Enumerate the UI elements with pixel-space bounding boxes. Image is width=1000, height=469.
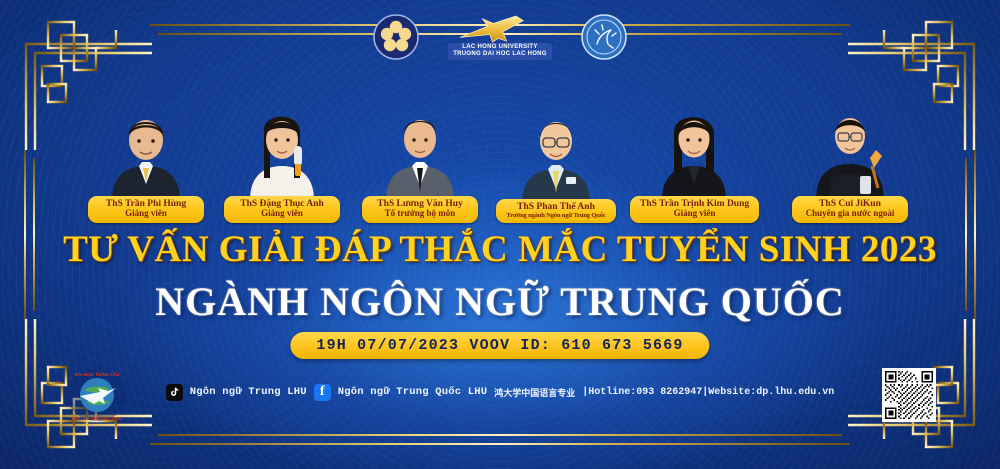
contact-info: |Hotline:093 8262947|Website:dp.lhu.edu.… bbox=[582, 387, 834, 398]
event-time-bar: 19H 07/07/2023 VOOV ID: 610 673 5669 bbox=[290, 332, 709, 359]
headline-line-1: TƯ VẤN GIẢI ĐÁP THẮC MẮC TUYỂN SINH 2023 bbox=[0, 228, 1000, 271]
seal-bottom-text: ĐẦU RA THÀNH CÔNG bbox=[72, 414, 123, 421]
facebook-icon[interactable]: f bbox=[314, 384, 331, 401]
tiktok-icon[interactable] bbox=[166, 384, 183, 401]
speaker-nameplate-3: ThS Lương Văn Huy Tổ trưởng bộ môn bbox=[362, 196, 478, 223]
speaker-nameplate-4: ThS Phan Thế Anh Trưởng ngành Ngôn ngữ T… bbox=[496, 199, 615, 223]
speaker-nameplate-5: ThS Trần Trịnh Kim Dung Giảng viên bbox=[630, 196, 759, 223]
speaker-card-1: ThS Trần Phi Hùng Giảng viên bbox=[82, 92, 210, 223]
speaker-role: Tổ trưởng bộ môn bbox=[372, 209, 468, 219]
speaker-nameplate-6: ThS Cui JiKun Chuyên gia nước ngoài bbox=[792, 196, 908, 223]
lac-hong-university-label: LAC HONG UNIVERSITYTRUONG DAI HOC LAC HO… bbox=[448, 43, 552, 60]
speaker-photo-3 bbox=[366, 92, 474, 200]
speakers-row: ThS Trần Phi Hùng Giảng viên ThS Đặng T bbox=[0, 78, 1000, 223]
chinese-program-label: 鸿大学中国语言专业 bbox=[494, 386, 575, 399]
speaker-role: Giảng viên bbox=[234, 209, 330, 219]
footer-bar: Ngôn ngữ Trung LHU f Ngôn ngữ Trung Quốc… bbox=[0, 380, 1000, 404]
speaker-photo-4 bbox=[502, 95, 610, 203]
speaker-card-4: ThS Phan Thế Anh Trưởng ngành Ngôn ngữ T… bbox=[492, 95, 620, 223]
tiktok-label: Ngôn ngữ Trung LHU bbox=[190, 386, 307, 398]
qr-code[interactable] bbox=[882, 368, 936, 422]
speaker-photo-1 bbox=[92, 92, 200, 200]
speaker-card-5: ThS Trần Trịnh Kim Dung Giảng viên bbox=[630, 92, 758, 223]
lac-hong-university-logo: LAC HONG UNIVERSITYTRUONG DAI HOC LAC HO… bbox=[445, 12, 555, 62]
speaker-role: Giảng viên bbox=[640, 209, 749, 219]
speaker-photo-5 bbox=[640, 92, 748, 200]
speaker-card-6: ThS Cui JiKun Chuyên gia nước ngoài bbox=[786, 92, 914, 223]
event-time-text: 19H 07/07/2023 VOOV ID: 610 673 5669 bbox=[316, 337, 683, 354]
speaker-nameplate-1: ThS Trần Phi Hùng Giảng viên bbox=[88, 196, 204, 223]
seal-top-text: ĐẠI HỌC TOÀN CẦU bbox=[75, 371, 121, 377]
speaker-name: ThS Phan Thế Anh bbox=[506, 202, 605, 212]
headline-line-2: NGÀNH NGÔN NGỮ TRUNG QUỐC bbox=[0, 278, 1000, 325]
speaker-photo-6 bbox=[796, 92, 904, 200]
airplane-icon bbox=[448, 15, 552, 43]
frame-line-bottom-inner bbox=[158, 434, 842, 436]
dragon-emblem-logo bbox=[581, 14, 627, 60]
speaker-role: Trưởng ngành Ngôn ngữ Trung Quốc bbox=[506, 212, 605, 219]
speaker-card-2: ThS Đặng Thục Anh Giảng viên bbox=[218, 92, 346, 223]
speaker-photo-2 bbox=[228, 92, 336, 200]
logo-row: LAC HONG UNIVERSITYTRUONG DAI HOC LAC HO… bbox=[0, 8, 1000, 66]
flower-emblem-logo bbox=[373, 14, 419, 60]
center-glow bbox=[120, 182, 880, 469]
speaker-role: Giảng viên bbox=[98, 209, 194, 219]
frame-line-bottom bbox=[150, 443, 850, 445]
speaker-role: Chuyên gia nước ngoài bbox=[802, 209, 898, 219]
admissions-poster: LAC HONG UNIVERSITYTRUONG DAI HOC LAC HO… bbox=[0, 0, 1000, 469]
speaker-nameplate-2: ThS Đặng Thục Anh Giảng viên bbox=[224, 196, 340, 223]
facebook-label: Ngôn ngữ Trung Quốc LHU bbox=[338, 386, 488, 398]
globe-seal-logo: ĐẠI HỌC TOÀN CẦU ĐẦU RA THÀNH CÔNG bbox=[58, 366, 136, 424]
speaker-card-3: ThS Lương Văn Huy Tổ trưởng bộ môn bbox=[356, 92, 484, 223]
